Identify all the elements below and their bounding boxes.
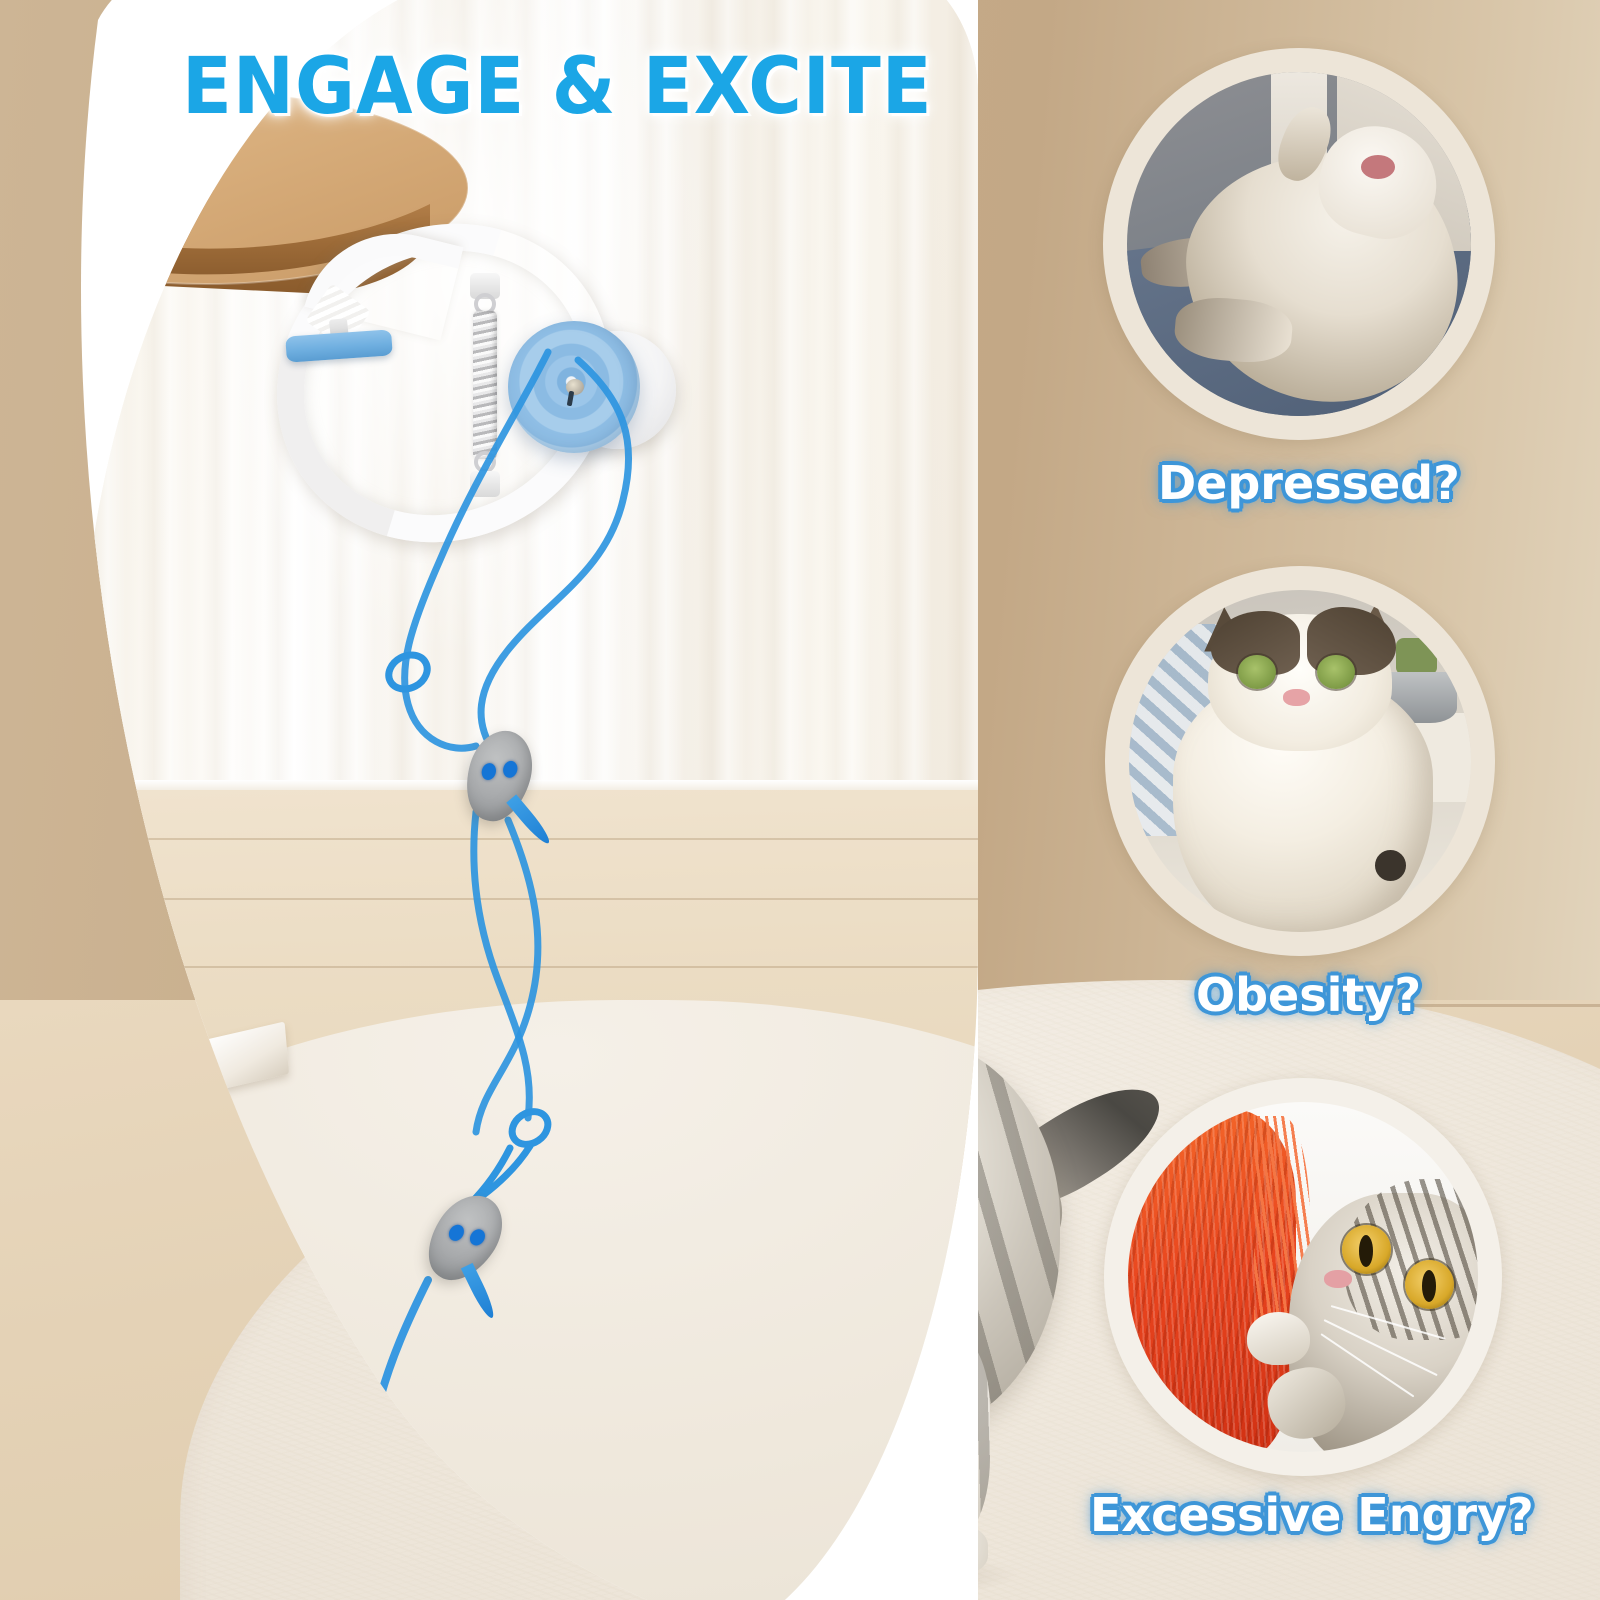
spring-mount-bottom — [470, 471, 500, 497]
cat-nose — [1283, 689, 1310, 706]
green-object — [1396, 638, 1437, 676]
bubble-depressed[interactable] — [1103, 48, 1495, 440]
bubble-obesity[interactable] — [1105, 566, 1495, 956]
bubble-photo-obesity — [1129, 590, 1471, 932]
cat-eye-left — [1238, 655, 1276, 689]
cat-pupil-left — [1359, 1235, 1373, 1267]
cat-toy-device — [258, 215, 718, 555]
cat-eye-right — [1317, 655, 1355, 689]
cat-dark-paw — [1375, 850, 1406, 881]
cat-paw-upper — [1247, 1312, 1310, 1365]
bubble-photo-depressed — [1127, 72, 1471, 416]
bubble-excessive-angry[interactable] — [1104, 1078, 1502, 1476]
bubble-label-excessive-angry: Excessive Engry? — [1090, 1488, 1534, 1542]
panel-content — [78, 0, 978, 1600]
page-title: ENGAGE & EXCITE — [182, 42, 933, 132]
tension-spring — [473, 311, 497, 459]
cat-pupil-right — [1422, 1270, 1436, 1302]
product-marketing-image: 🐈 🐈 🐈 🐈 🐈 — [0, 0, 1600, 1600]
bubble-label-depressed: Depressed? — [1158, 456, 1460, 510]
cat-mouth — [1361, 155, 1395, 179]
product-demo-panel — [0, 0, 1000, 1600]
spring-hook-bottom — [474, 451, 496, 473]
bubble-photo-excessive-angry — [1128, 1102, 1478, 1452]
bubble-label-obesity: Obesity? — [1196, 968, 1421, 1022]
cat-nose — [1324, 1270, 1352, 1288]
